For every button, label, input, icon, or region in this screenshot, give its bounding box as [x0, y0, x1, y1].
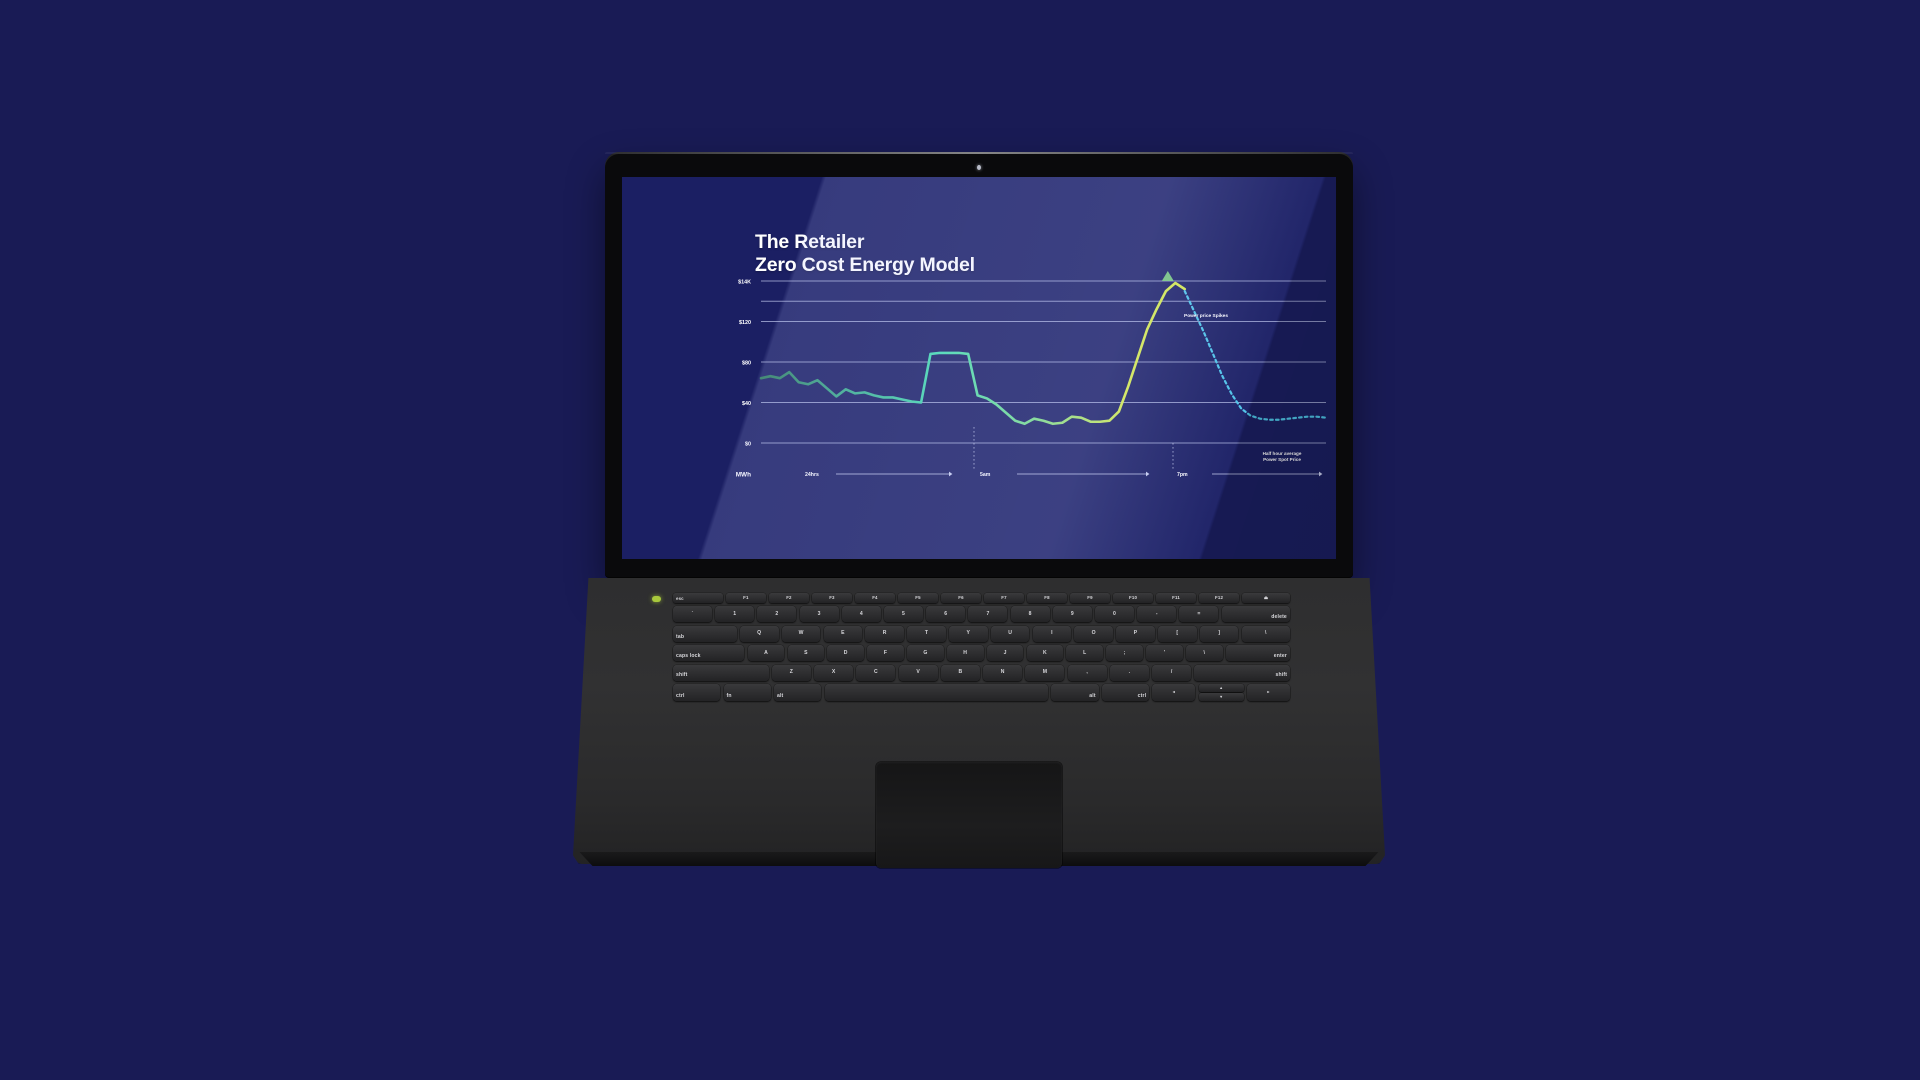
key-label: N — [1001, 670, 1005, 675]
key-delete[interactable]: delete — [1222, 606, 1290, 622]
key-label: 4 — [860, 612, 863, 617]
key-label: F1 — [743, 596, 748, 600]
key-label: F4 — [872, 596, 877, 600]
y-axis-tick-label: $80 — [742, 361, 751, 367]
key-F6[interactable]: F6 — [941, 593, 981, 603]
key-F4[interactable]: F4 — [855, 593, 895, 603]
key-H[interactable]: H — [947, 645, 984, 661]
key-P[interactable]: P — [1116, 626, 1155, 642]
key-shift[interactable]: shift — [1194, 665, 1290, 681]
key-label: ◂ — [1173, 690, 1175, 694]
x-axis-label: MWh — [736, 472, 751, 479]
y-axis-tick-label: $40 — [742, 401, 751, 407]
key-label: shift — [676, 673, 688, 678]
key-W[interactable]: W — [782, 626, 821, 642]
x-marker-24hrs: 24hrs — [805, 472, 819, 478]
key-esc[interactable]: esc — [673, 593, 723, 603]
key-label: F11 — [1172, 596, 1180, 600]
y-axis-tick-label: $14K — [738, 280, 751, 286]
y-axis-tick-label: $0 — [745, 442, 751, 448]
key-label: ⏏ — [1264, 596, 1268, 600]
key-J[interactable]: J — [987, 645, 1024, 661]
key-label: = — [1197, 612, 1200, 617]
chart-svg: $0$40$80$120$14KMWh24hrs5am7pmPower pric… — [622, 177, 1336, 559]
keyboard[interactable]: escF1F2F3F4F5F6F7F8F9F10F11F12⏏`12345678… — [673, 593, 1290, 704]
key-label: caps lock — [676, 654, 701, 659]
spike-peak-triangle-marker — [1162, 271, 1174, 281]
key-ctrl[interactable]: ctrl — [673, 684, 720, 701]
key-F11[interactable]: F11 — [1156, 593, 1196, 603]
key-label: U — [1008, 631, 1012, 636]
arrow-up-down-stack: ▴▾ — [1199, 684, 1244, 701]
key-space[interactable] — [825, 684, 1049, 701]
key-label: 0 — [1113, 612, 1116, 617]
key-label: V — [916, 670, 920, 675]
number-row: `1234567890-=delete — [673, 606, 1290, 622]
key-label: ▴ — [1220, 686, 1222, 690]
key-Y[interactable]: Y — [949, 626, 988, 642]
key-⏏[interactable]: ⏏ — [1242, 593, 1290, 603]
key-label: F2 — [786, 596, 791, 600]
key-label: I — [1051, 631, 1053, 636]
key-label: A — [764, 651, 768, 656]
laptop-screen: The Retailer Zero Cost Energy Model $0$4… — [622, 177, 1336, 559]
key-label: 3 — [818, 612, 821, 617]
key-,[interactable]: , — [1068, 665, 1107, 681]
key-label: ` — [692, 612, 694, 617]
function-row: escF1F2F3F4F5F6F7F8F9F10F11F12⏏ — [673, 593, 1290, 603]
key-label: P — [1134, 631, 1138, 636]
key-E[interactable]: E — [824, 626, 863, 642]
key-label: Q — [757, 631, 761, 636]
key-label: alt — [777, 694, 783, 699]
key-label: delete — [1271, 615, 1287, 620]
laptop-lid: The Retailer Zero Cost Energy Model $0$4… — [605, 152, 1353, 578]
key-D[interactable]: D — [827, 645, 864, 661]
key-caps-lock[interactable]: caps lock — [673, 645, 744, 661]
key-F[interactable]: F — [867, 645, 904, 661]
svg-text:Half hour average: Half hour average — [1263, 451, 1302, 456]
key-arrow-down[interactable]: ▾ — [1199, 693, 1244, 701]
key-label: 5 — [902, 612, 905, 617]
key-U[interactable]: U — [991, 626, 1030, 642]
key-label: enter — [1274, 654, 1287, 659]
key-label: F5 — [915, 596, 920, 600]
key-label: alt — [1089, 694, 1095, 699]
key-8[interactable]: 8 — [1011, 606, 1050, 622]
x-axis-arrow-icon — [949, 472, 952, 477]
key-label: shift — [1276, 673, 1288, 678]
key-label: F — [884, 651, 887, 656]
trackpad[interactable] — [876, 762, 1062, 868]
key-label: B — [958, 670, 962, 675]
modifier-row: ctrlfnaltaltctrl◂▴▾▸ — [673, 684, 1290, 701]
series-projected-decline — [1185, 291, 1326, 420]
key-I[interactable]: I — [1033, 626, 1072, 642]
key-label: F7 — [1001, 596, 1006, 600]
key-label: H — [963, 651, 967, 656]
zxcv-row: shiftZXCVBNM,./shift — [673, 665, 1290, 681]
key-tab[interactable]: tab — [673, 626, 737, 642]
key-label: \ — [1265, 631, 1267, 636]
key-label: O — [1092, 631, 1096, 636]
key-F8[interactable]: F8 — [1027, 593, 1067, 603]
webcam-dot — [977, 165, 981, 170]
key-label: 9 — [1071, 612, 1074, 617]
key-label: F9 — [1087, 596, 1092, 600]
key-`[interactable]: ` — [673, 606, 712, 622]
key-label: W — [799, 631, 804, 636]
key-label: X — [832, 670, 836, 675]
key-0[interactable]: 0 — [1095, 606, 1134, 622]
key-\[interactable]: \ — [1186, 645, 1223, 661]
key-M[interactable]: M — [1025, 665, 1064, 681]
key-label: [ — [1176, 631, 1178, 636]
key-label: fn — [727, 694, 732, 699]
key-X[interactable]: X — [814, 665, 853, 681]
key-.[interactable]: . — [1110, 665, 1149, 681]
key-label: esc — [676, 597, 684, 601]
key-label: ] — [1218, 631, 1220, 636]
key-Z[interactable]: Z — [772, 665, 811, 681]
key-label: / — [1171, 670, 1173, 675]
key-=[interactable]: = — [1179, 606, 1218, 622]
key-F10[interactable]: F10 — [1113, 593, 1153, 603]
key-alt[interactable]: alt — [774, 684, 821, 701]
key-O[interactable]: O — [1074, 626, 1113, 642]
x-axis-arrow-icon — [1319, 472, 1322, 477]
key-G[interactable]: G — [907, 645, 944, 661]
y-axis-tick-label: $120 — [739, 320, 751, 326]
x-axis-arrow-icon — [1146, 472, 1149, 477]
key-K[interactable]: K — [1027, 645, 1064, 661]
key-F12[interactable]: F12 — [1199, 593, 1239, 603]
power-led-indicator — [652, 596, 661, 602]
key-shift[interactable]: shift — [673, 665, 769, 681]
key-][interactable]: ] — [1200, 626, 1239, 642]
key-alt[interactable]: alt — [1051, 684, 1098, 701]
x-marker-5am: 5am — [980, 472, 991, 478]
key-label: F12 — [1215, 596, 1223, 600]
key-label: ' — [1164, 651, 1165, 656]
key-5[interactable]: 5 — [884, 606, 923, 622]
key-4[interactable]: 4 — [842, 606, 881, 622]
key-F9[interactable]: F9 — [1070, 593, 1110, 603]
key-/[interactable]: / — [1152, 665, 1191, 681]
key-label: ▸ — [1267, 690, 1269, 694]
key-label: Z — [790, 670, 793, 675]
key-[[interactable]: [ — [1158, 626, 1197, 642]
key-arrow-up[interactable]: ▴ — [1199, 684, 1244, 692]
key-label: J — [1004, 651, 1007, 656]
key-A[interactable]: A — [748, 645, 785, 661]
key-label: F10 — [1129, 596, 1137, 600]
key-label: 8 — [1029, 612, 1032, 617]
key-label: R — [883, 631, 887, 636]
key-label: , — [1086, 670, 1088, 675]
key-label: F3 — [829, 596, 834, 600]
lid-top-highlight — [605, 152, 1353, 154]
annotation-half-hour-average: Half hour averagePower Spot Price — [1263, 451, 1302, 462]
key-'[interactable]: ' — [1146, 645, 1183, 661]
key-F7[interactable]: F7 — [984, 593, 1024, 603]
key-label: D — [844, 651, 848, 656]
key-6[interactable]: 6 — [926, 606, 965, 622]
key-3[interactable]: 3 — [800, 606, 839, 622]
svg-text:Power Spot Price: Power Spot Price — [1263, 457, 1301, 462]
key-label: 7 — [986, 612, 989, 617]
key-label: ctrl — [1138, 694, 1147, 699]
key-9[interactable]: 9 — [1053, 606, 1092, 622]
key-\[interactable]: \ — [1242, 626, 1290, 642]
key-N[interactable]: N — [983, 665, 1022, 681]
key-arrow-right[interactable]: ▸ — [1247, 684, 1290, 701]
key-L[interactable]: L — [1066, 645, 1103, 661]
key-B[interactable]: B — [941, 665, 980, 681]
key-label: ctrl — [676, 694, 685, 699]
key-1[interactable]: 1 — [715, 606, 754, 622]
key-label: K — [1043, 651, 1047, 656]
key-label: T — [925, 631, 928, 636]
x-marker-7pm: 7pm — [1177, 472, 1188, 478]
key-label: M — [1043, 670, 1047, 675]
qwerty-row: tabQWERTYUIOP[]\ — [673, 626, 1290, 642]
key-label: - — [1156, 612, 1158, 617]
key-T[interactable]: T — [907, 626, 946, 642]
key-label: L — [1083, 651, 1086, 656]
energy-price-chart: $0$40$80$120$14KMWh24hrs5am7pmPower pric… — [622, 177, 1336, 559]
key-F1[interactable]: F1 — [726, 593, 766, 603]
key-fn[interactable]: fn — [724, 684, 771, 701]
key-2[interactable]: 2 — [757, 606, 796, 622]
key-label: Y — [967, 631, 971, 636]
key-F5[interactable]: F5 — [898, 593, 938, 603]
key-label: ; — [1124, 651, 1126, 656]
key-label: tab — [676, 635, 684, 640]
key-C[interactable]: C — [856, 665, 895, 681]
home-row: caps lockASDFGHJKL;'\enter — [673, 645, 1290, 661]
key-7[interactable]: 7 — [968, 606, 1007, 622]
laptop-mockup: The Retailer Zero Cost Energy Model $0$4… — [0, 0, 1920, 1080]
presentation-slide: The Retailer Zero Cost Energy Model $0$4… — [622, 177, 1336, 559]
key-enter[interactable]: enter — [1226, 645, 1290, 661]
key-label: F8 — [1044, 596, 1049, 600]
key-Q[interactable]: Q — [740, 626, 779, 642]
key-label: 1 — [733, 612, 736, 617]
key-F2[interactable]: F2 — [769, 593, 809, 603]
key-label: C — [874, 670, 878, 675]
key-label: E — [841, 631, 845, 636]
key-label: 2 — [775, 612, 778, 617]
key-F3[interactable]: F3 — [812, 593, 852, 603]
key-;[interactable]: ; — [1106, 645, 1143, 661]
annotation-power-price-spikes: Power price Spikes — [1184, 313, 1228, 319]
key-label: S — [804, 651, 808, 656]
key-V[interactable]: V — [899, 665, 938, 681]
key-label: 6 — [944, 612, 947, 617]
key-label: F6 — [958, 596, 963, 600]
key-arrow-left[interactable]: ◂ — [1152, 684, 1195, 701]
key-label: ▾ — [1220, 695, 1222, 699]
key-label: . — [1129, 670, 1131, 675]
key-label: G — [923, 651, 927, 656]
key-S[interactable]: S — [788, 645, 825, 661]
key-ctrl[interactable]: ctrl — [1102, 684, 1149, 701]
key--[interactable]: - — [1137, 606, 1176, 622]
key-R[interactable]: R — [865, 626, 904, 642]
key-label: \ — [1203, 651, 1205, 656]
